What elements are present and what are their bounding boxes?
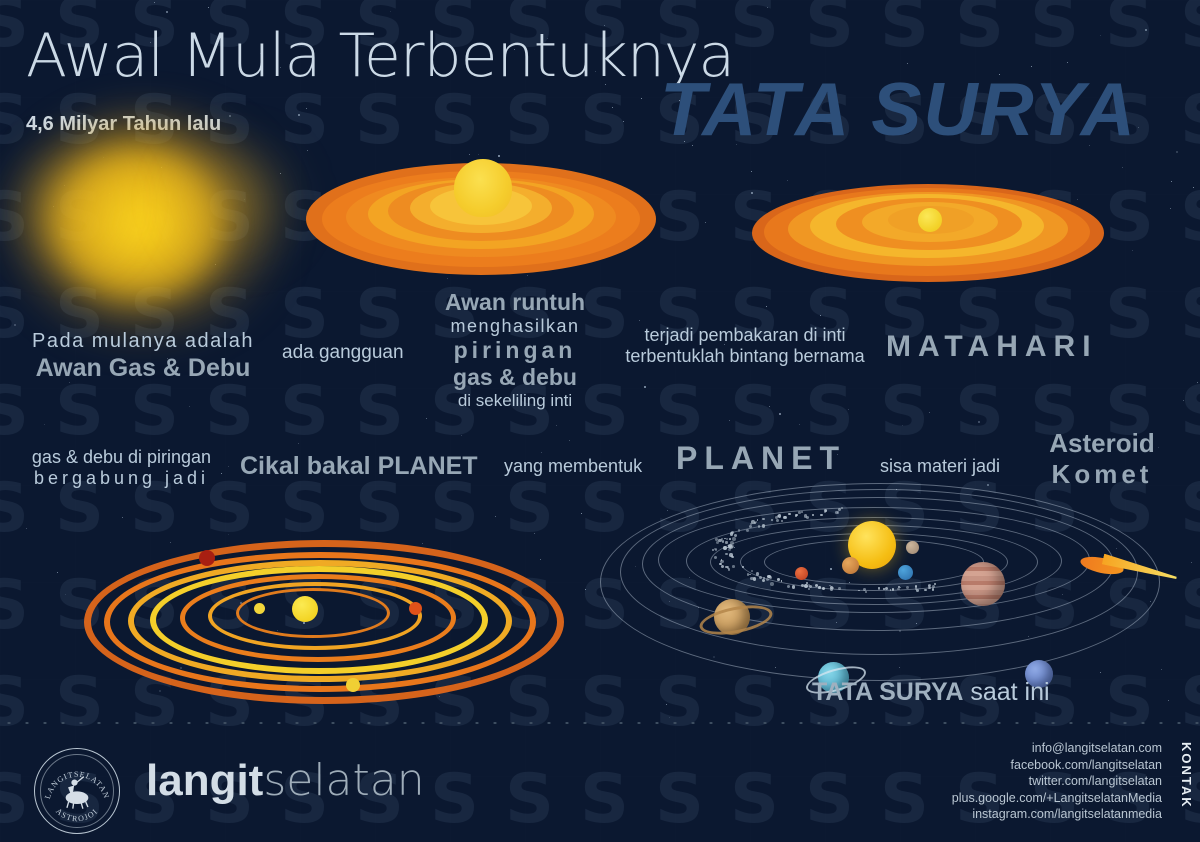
brand-wordmark: langitselatan <box>146 759 425 803</box>
body-mars <box>795 567 808 580</box>
caption-planetesimals: gas & debu di piringan bergabung jadi <box>14 447 229 489</box>
line-gas-debu: gas & debu <box>420 364 610 391</box>
line-awan-runtuh: Awan runtuh <box>420 289 610 316</box>
line-asteroid: Asteroid <box>1012 428 1192 459</box>
line-gas-debu-piringan: gas & debu di piringan <box>14 447 229 468</box>
contact-facebook[interactable]: facebook.com/langitselatan <box>832 757 1162 774</box>
caption-star-ignition: terjadi pembakaran di inti terbentuklah … <box>614 325 876 367</box>
contact-email[interactable]: info@langitselatan.com <box>832 740 1162 757</box>
protoplanetary-disk-illustration <box>306 145 656 285</box>
solar-system-label-bold: TATA SURYA <box>812 678 963 706</box>
solar-system-label: TATA SURYA saat ini <box>812 678 1050 707</box>
contact-googleplus[interactable]: plus.google.com/+LangitselatanMedia <box>832 790 1162 807</box>
caption-disturbance: ada gangguan <box>282 342 404 364</box>
contact-twitter[interactable]: twitter.com/langitselatan <box>832 773 1162 790</box>
page-title: Awal Mula Terbentuknya <box>26 26 734 86</box>
line-menghasilkan: menghasilkan <box>420 316 610 337</box>
body-saturn <box>700 593 766 639</box>
ignited-disk-illustration <box>752 172 1104 290</box>
line-pembakaran: terjadi pembakaran di inti <box>614 325 876 346</box>
caption-cikal-bakal-planet: Cikal bakal PLANET <box>240 452 478 481</box>
line-piringan: piringan <box>420 337 610 364</box>
caption-yang-membentuk: yang membentuk <box>504 456 642 477</box>
contact-heading: KONTAK <box>1179 742 1194 809</box>
caption-gas-cloud-bold: Awan Gas & Debu <box>18 354 268 383</box>
line-komet: Komet <box>1012 459 1192 490</box>
brand-bold: langit <box>146 756 263 805</box>
proto-orbit-system-illustration <box>84 530 554 700</box>
body-jupiter <box>961 562 1005 606</box>
solar-system-label-light: saat ini <box>970 678 1049 706</box>
svg-text:ASTROJOI: ASTROJOI <box>54 806 100 823</box>
line-bintang-bernama: terbentuklah bintang bernama <box>614 346 876 367</box>
body-earth <box>898 565 913 580</box>
caption-planet: PLANET <box>676 440 846 477</box>
langitselatan-logo: LANGITSELATAN ASTROJOI <box>34 748 120 834</box>
line-di-sekeliling-inti: di sekeliling inti <box>420 391 610 411</box>
infographic-poster: SSSSSSSSSSSSSSSSSSSSSSSSSSSSSSSSSSSSSSSS… <box>0 0 1200 842</box>
solar-system-illustration <box>648 505 1200 705</box>
line-bergabung-jadi: bergabung jadi <box>14 468 229 489</box>
brand-light: selatan <box>263 755 424 806</box>
body-mercury <box>906 541 919 554</box>
caption-gas-cloud-light: Pada mulanya adalah <box>18 330 268 353</box>
footer-divider <box>0 722 1200 724</box>
caption-matahari: MATAHARI <box>886 330 1098 364</box>
caption-gas-cloud: Pada mulanya adalah Awan Gas & Debu <box>18 330 268 383</box>
body-venus <box>842 557 859 574</box>
big-heading-tata-surya: TATA SURYA <box>660 72 1137 147</box>
contact-list: info@langitselatan.com facebook.com/lang… <box>832 740 1162 823</box>
caption-collapse-disk: Awan runtuh menghasilkan piringan gas & … <box>420 289 610 411</box>
caption-asteroid-komet: Asteroid Komet <box>1012 428 1192 490</box>
caption-sisa-materi: sisa materi jadi <box>880 456 1000 477</box>
contact-instagram[interactable]: instagram.com/langitselatanmedia <box>832 806 1162 823</box>
body-comet <box>1080 553 1190 589</box>
